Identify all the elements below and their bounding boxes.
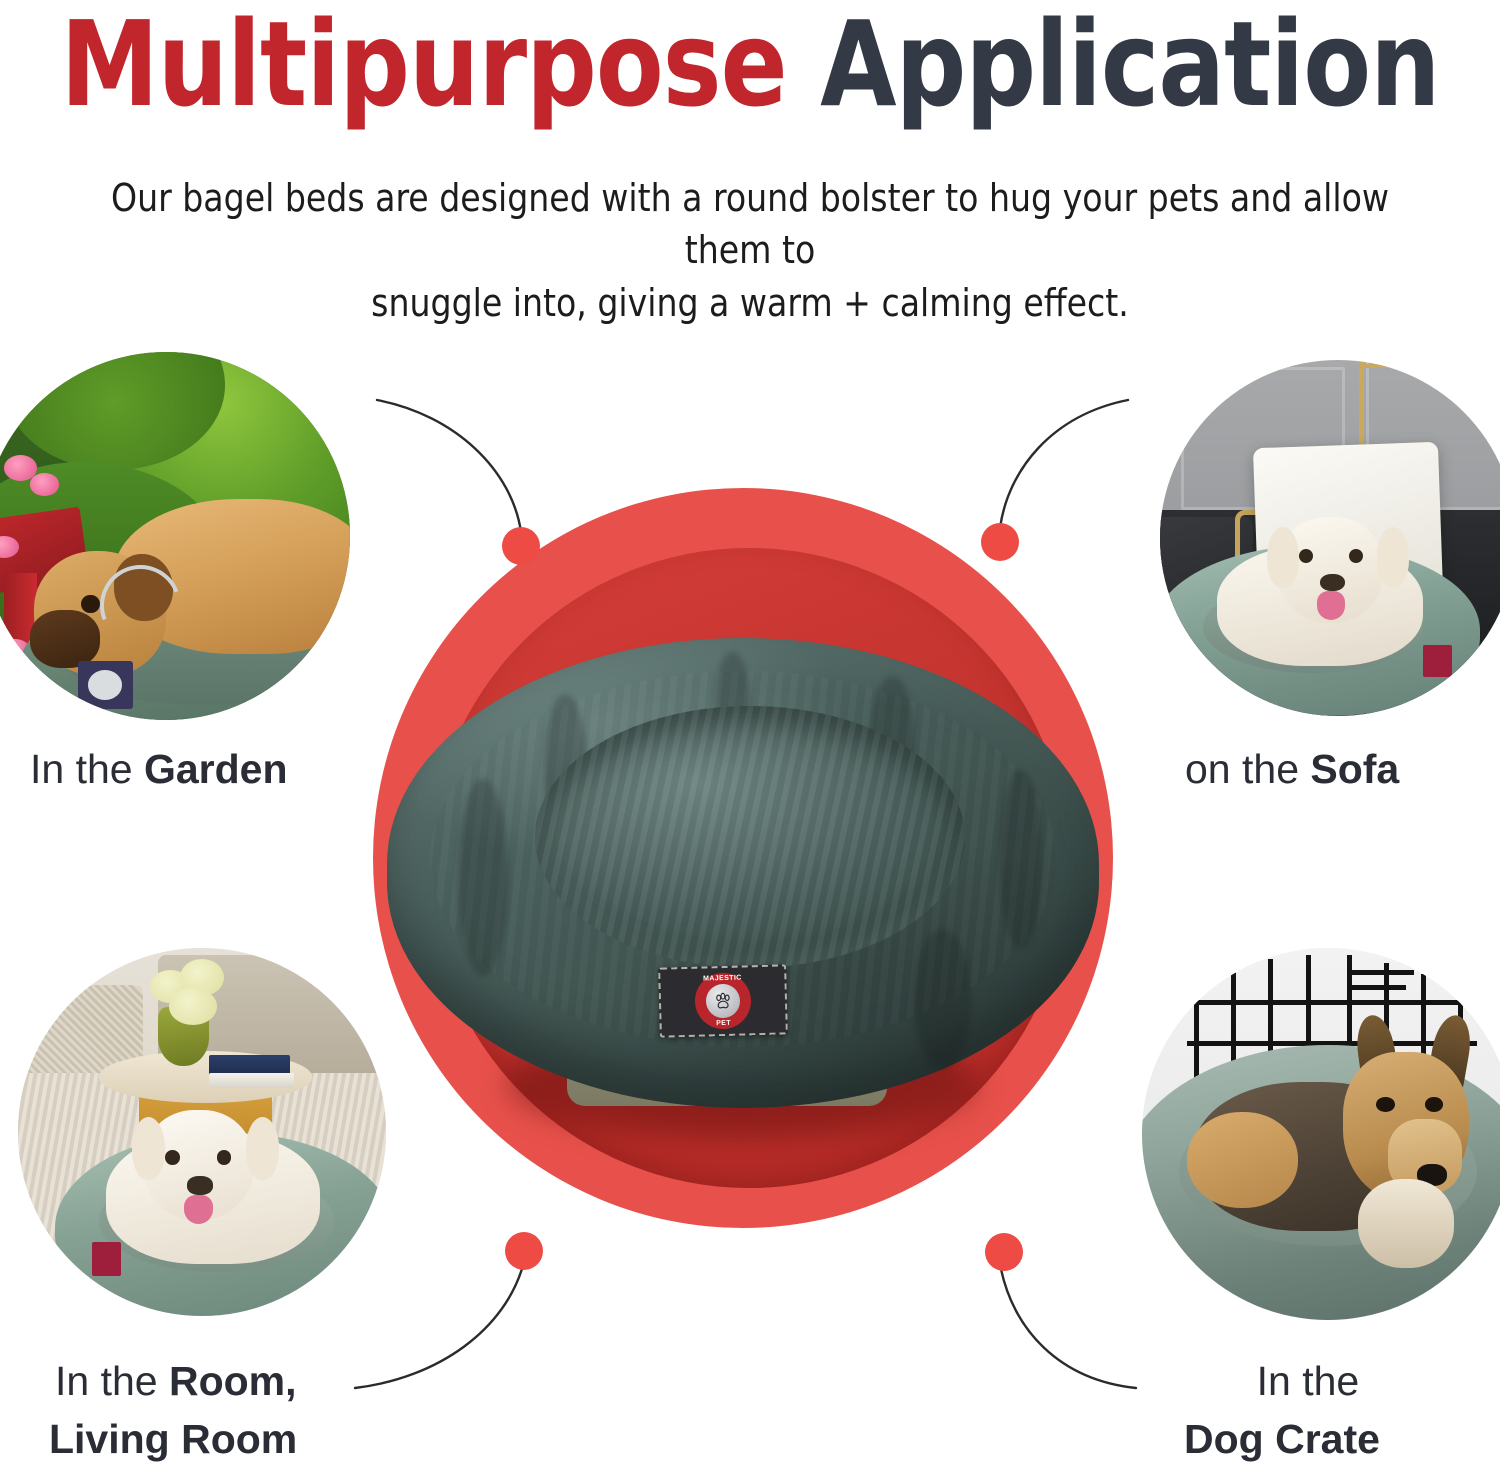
bolster-fold xyxy=(914,929,971,1070)
connector-dot-living-room xyxy=(505,1232,543,1270)
caption-dog-crate: In the Dog Crate xyxy=(1236,1352,1380,1468)
caption-living-room-bold-1: Room, xyxy=(169,1358,297,1404)
sofa-dog-ear xyxy=(1377,527,1409,588)
page-title: Multipurpose Application xyxy=(53,4,1448,124)
living-room-bed-label xyxy=(92,1242,121,1275)
title-word-application: Application xyxy=(820,0,1439,133)
subtitle-line-1: Our bagel beds are designed with a round… xyxy=(111,176,1389,272)
caption-garden-prefix: In the xyxy=(30,746,144,792)
crate-bar xyxy=(1172,1000,1492,1005)
gold-trim xyxy=(1359,364,1500,368)
hydrangea-flower xyxy=(169,988,217,1025)
connector-dot-sofa xyxy=(981,523,1019,561)
connector-line-dog-crate xyxy=(1000,1264,1136,1388)
center-product-graphic: MAJESTIC PET xyxy=(373,488,1113,1228)
caption-living-room-prefix: In the xyxy=(55,1358,169,1404)
stacked-book xyxy=(209,1073,294,1088)
sofa-dog-tongue xyxy=(1317,591,1345,619)
garden-dog-snout xyxy=(30,610,100,669)
sofa-dog-nose xyxy=(1320,574,1345,592)
caption-garden-bold: Garden xyxy=(144,746,288,792)
sofa-bed-label xyxy=(1423,645,1451,677)
title-word-multipurpose: Multipurpose xyxy=(60,0,786,133)
caption-garden: In the Garden xyxy=(30,740,288,798)
brand-name-top: MAJESTIC xyxy=(694,974,750,982)
crate-dog-chest xyxy=(1358,1179,1455,1268)
product-dog-bed: MAJESTIC PET xyxy=(387,628,1099,1148)
living-room-dog-tongue xyxy=(184,1195,213,1224)
callout-image-sofa xyxy=(1160,360,1500,716)
callout-image-living-room xyxy=(18,948,386,1316)
dog-crate-scene xyxy=(1142,948,1500,1320)
living-room-dog-eye xyxy=(165,1150,180,1165)
garden-flower xyxy=(30,473,59,495)
connector-dot-garden xyxy=(502,527,540,565)
living-room-dog-ear xyxy=(132,1117,165,1180)
living-room-dog-ear xyxy=(246,1117,279,1180)
sofa-dog-eye xyxy=(1299,549,1313,563)
crate-latch xyxy=(1347,985,1407,990)
callout-image-garden xyxy=(0,352,350,720)
caption-sofa: on the Sofa xyxy=(1185,740,1399,798)
crate-bar xyxy=(1194,993,1199,1082)
connector-dot-dog-crate xyxy=(985,1233,1023,1271)
crate-dog-rear xyxy=(1187,1112,1299,1209)
caption-living-room-bold-2: Living Room xyxy=(49,1410,297,1468)
crate-dog-eye xyxy=(1376,1097,1395,1112)
subtitle-line-2: snuggle into, giving a warm + calming ef… xyxy=(371,281,1129,325)
crate-dog-eye xyxy=(1425,1097,1444,1112)
garden-bed-label xyxy=(78,661,133,709)
caption-living-room: In the Room, Living Room xyxy=(55,1352,297,1468)
bolster-fold xyxy=(458,779,508,976)
brand-badge: MAJESTIC PET xyxy=(694,972,751,1029)
infographic-page: Multipurpose Application Our bagel beds … xyxy=(0,0,1500,1470)
garden-scene xyxy=(0,352,350,720)
garden-dog-eye xyxy=(81,595,99,613)
living-room-scene xyxy=(18,948,386,1316)
caption-dog-crate-line-1: In the xyxy=(1257,1358,1360,1404)
paw-print-icon xyxy=(706,984,741,1019)
subtitle: Our bagel beds are designed with a round… xyxy=(71,172,1429,329)
bolster-fold xyxy=(999,770,1042,949)
caption-sofa-bold: Sofa xyxy=(1310,746,1399,792)
caption-dog-crate-bold: Dog Crate xyxy=(1184,1410,1380,1468)
sofa-dog-ear xyxy=(1267,527,1299,588)
brand-name-bottom: PET xyxy=(696,1019,752,1027)
bed-center-cushion xyxy=(535,706,965,968)
callout-image-dog-crate xyxy=(1142,948,1500,1320)
sofa-dog-eye xyxy=(1349,549,1363,563)
crate-latch xyxy=(1347,970,1414,975)
brand-tag: MAJESTIC PET xyxy=(658,964,788,1037)
caption-sofa-prefix: on the xyxy=(1185,746,1310,792)
sofa-scene xyxy=(1160,360,1500,716)
living-room-dog-nose xyxy=(187,1176,213,1194)
